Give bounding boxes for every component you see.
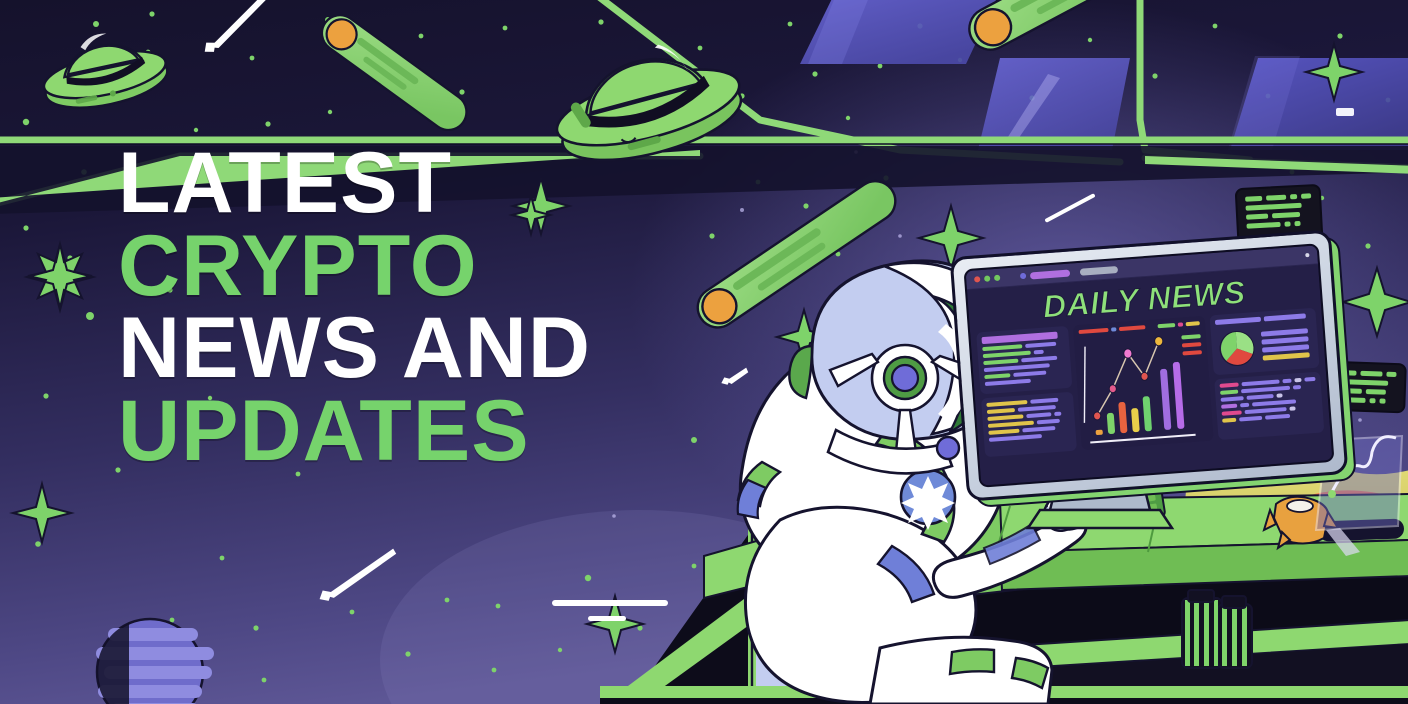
window-maximize-dot[interactable]	[994, 275, 1000, 281]
price-chart-svg	[1073, 316, 1214, 450]
headline-line-2: CRYPTO	[118, 229, 591, 305]
poster-canvas: LATEST CRYPTO NEWS AND UPDATES	[0, 0, 1408, 704]
chart-legend-bars	[1079, 321, 1200, 334]
headline-line-3: NEWS AND	[118, 311, 591, 387]
right-panel-column	[1210, 307, 1324, 439]
tab-indicator-dot	[1020, 273, 1026, 279]
price-chart-card[interactable]	[1073, 316, 1214, 450]
window-minimize-dot[interactable]	[984, 275, 990, 281]
address-bar-pill[interactable]	[1080, 266, 1118, 276]
article-list-card[interactable]	[976, 326, 1073, 395]
headline-line-4: UPDATES	[118, 394, 591, 470]
volume-bars	[1091, 362, 1185, 435]
news-feed-card[interactable]	[1215, 372, 1325, 440]
allocation-pie-card[interactable]	[1210, 307, 1320, 375]
browser-menu-dot[interactable]	[1305, 253, 1309, 257]
window-close-dot[interactable]	[974, 276, 980, 282]
browser-tab-pill[interactable]	[1030, 269, 1070, 279]
gas-canisters	[1182, 590, 1252, 668]
headline-line-1: LATEST	[118, 146, 591, 222]
monitor-bezel: DAILY NEWS	[950, 229, 1349, 501]
planet-striped	[96, 619, 214, 704]
monitor-screen[interactable]: DAILY NEWS	[963, 243, 1334, 487]
news-site-page: DAILY NEWS	[967, 264, 1332, 485]
ticker-list-card[interactable]	[981, 391, 1077, 457]
left-panel-column	[976, 326, 1077, 457]
chart-side-legend	[1182, 334, 1203, 355]
dashboard-grid	[976, 307, 1324, 457]
allocation-pie-svg	[1216, 327, 1259, 370]
desktop-monitor[interactable]: DAILY NEWS	[950, 229, 1349, 501]
page-title: LATEST CRYPTO NEWS AND UPDATES	[118, 146, 591, 477]
